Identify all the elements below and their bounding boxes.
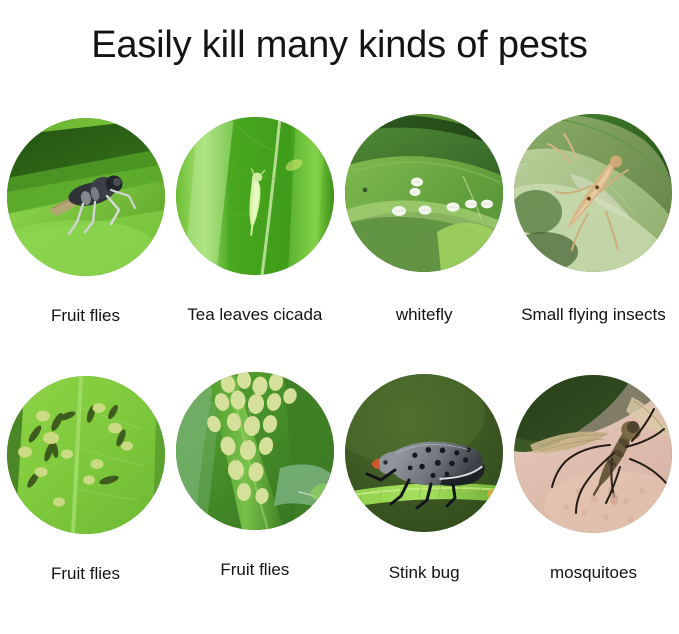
pest-card-mosquitoes[interactable]: mosquitoes	[512, 376, 675, 582]
pest-grid: Fruit flies	[0, 118, 679, 634]
small-flying-insect-on-leaf-photo	[514, 114, 672, 272]
pest-label: Small flying insects	[521, 305, 666, 324]
whiteflies-on-leaf-photo	[345, 114, 503, 272]
pest-label: Stink bug	[389, 563, 460, 582]
fruit-fly-on-leaf-photo	[7, 118, 165, 276]
aphids-on-stem-photo	[176, 372, 334, 530]
pest-label: Fruit flies	[220, 560, 289, 579]
pest-row-1: Fruit flies	[0, 118, 679, 376]
pest-card-tea-leaves-cicada[interactable]: Tea leaves cicada	[173, 118, 336, 324]
pest-card-fruit-flies-2[interactable]: Fruit flies	[4, 376, 167, 583]
pest-card-small-flying-insects[interactable]: Small flying insects	[512, 118, 675, 324]
pest-label: Tea leaves cicada	[187, 305, 322, 324]
spotted-lanternfly-on-stem-photo	[345, 374, 503, 532]
pest-label: Fruit flies	[51, 306, 120, 325]
pest-row-2: Fruit flies	[0, 376, 679, 634]
pest-infographic-page: { "title": "Easily kill many kinds of pe…	[0, 0, 679, 597]
pest-card-fruit-flies-1[interactable]: Fruit flies	[4, 118, 167, 325]
page-title: Easily kill many kinds of pests	[0, 23, 679, 67]
pest-label: Fruit flies	[51, 564, 120, 583]
pest-label: mosquitoes	[550, 563, 637, 582]
pest-card-whitefly[interactable]: whitefly	[343, 118, 506, 324]
pest-label: whitefly	[396, 305, 453, 324]
fruit-flies-on-green-leaf-photo	[7, 376, 165, 534]
pest-card-stink-bug[interactable]: Stink bug	[343, 376, 506, 582]
mosquito-on-skin-photo	[514, 375, 672, 533]
tea-leafhopper-on-leaf-photo	[176, 117, 334, 275]
pest-card-fruit-flies-3[interactable]: Fruit flies	[173, 376, 336, 579]
